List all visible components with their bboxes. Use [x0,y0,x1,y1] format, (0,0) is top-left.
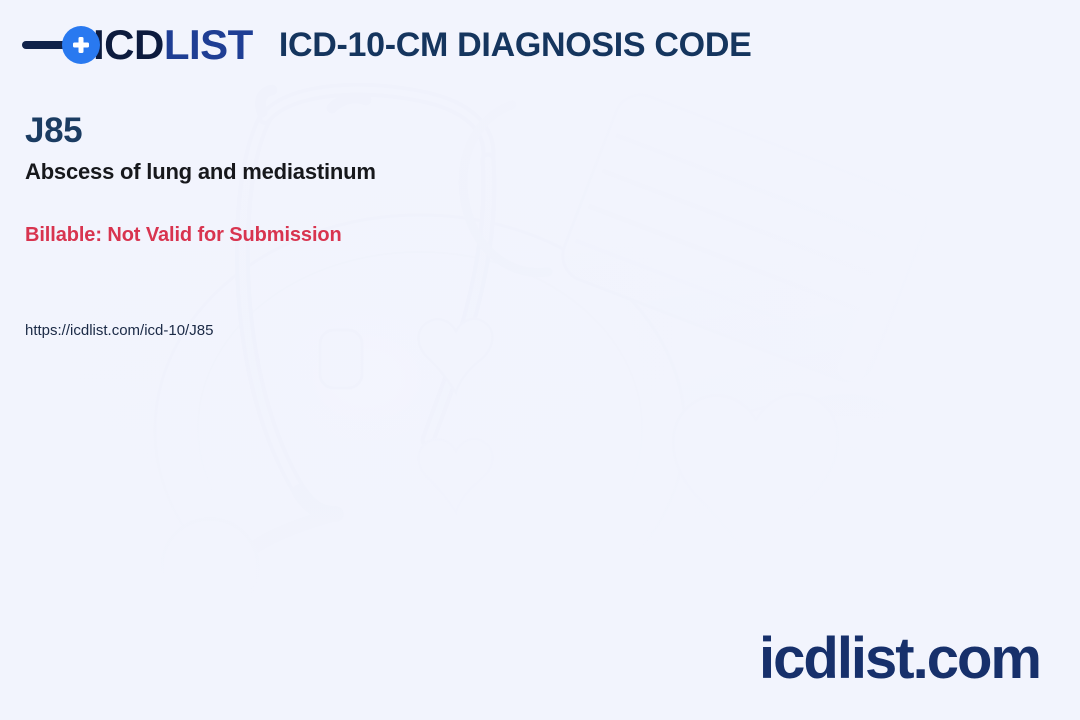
logo-word-list: LIST [164,21,253,68]
plus-in-circle-icon [62,26,100,64]
page-title: ICD-10-CM DIAGNOSIS CODE [279,28,752,62]
background-veil [0,0,1080,720]
site-watermark: icdlist.com [759,630,1040,688]
paper-heart-small-2 [418,439,492,513]
status-badge: Billable: Not Valid for Submission [25,223,342,247]
diagnosis-code: J85 [25,113,376,150]
header: ICDLIST ICD-10-CM DIAGNOSIS CODE [22,24,751,66]
background-photo [0,0,1080,720]
diagnosis-code-block: J85 Abscess of lung and mediastinum [25,113,376,185]
code-url[interactable]: https://icdlist.com/icd-10/J85 [25,322,213,340]
logo-word-icd: ICD [93,21,164,68]
logo-wordmark: ICDLIST [93,24,253,66]
hand-holding-heart-illustration [673,394,950,642]
paper-heart-small-1 [418,319,492,393]
stethoscope-connector [320,330,362,388]
stethoscope-chestpiece [162,519,258,615]
icdlist-logo[interactable]: ICDLIST [22,24,253,66]
icd-code-card: ICDLIST ICD-10-CM DIAGNOSIS CODE J85 Abs… [0,0,1080,720]
diagnosis-description: Abscess of lung and mediastinum [25,159,376,185]
surgical-face-mask-illustration [463,87,967,412]
tray-shape [155,215,685,645]
